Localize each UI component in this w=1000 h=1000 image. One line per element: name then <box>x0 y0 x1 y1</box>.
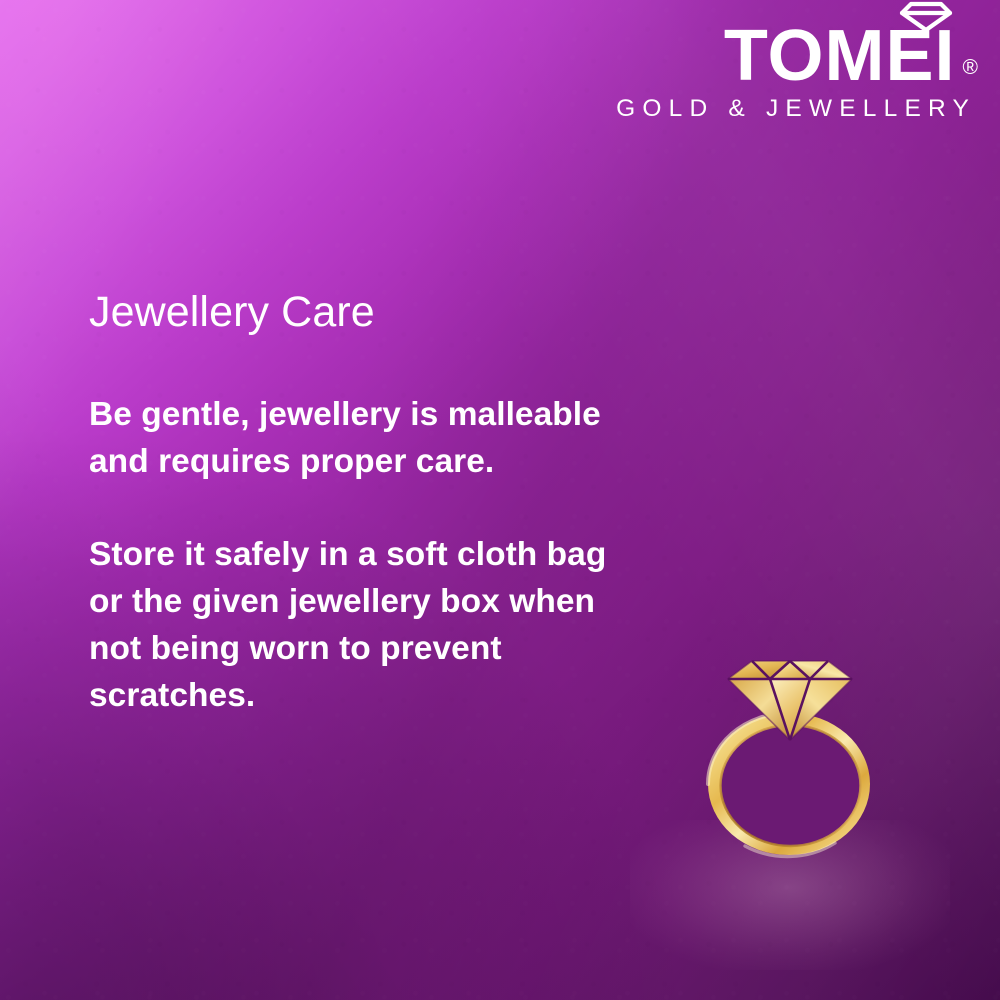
ring-vector <box>690 640 890 910</box>
care-paragraph-2: Store it safely in a soft cloth bag or t… <box>89 532 649 720</box>
copy-block: Jewellery Care Be gentle, jewellery is m… <box>89 288 649 720</box>
brand-wordmark-container: TOMEI <box>724 25 956 88</box>
brand-logo: TOMEI ® GOLD & JEWELLERY <box>616 6 978 123</box>
poster-canvas: TOMEI ® GOLD & JEWELLERY Jewellery Care … <box>0 0 1000 1000</box>
brand-tagline: GOLD & JEWELLERY <box>616 95 976 123</box>
diamond-ring-illustration <box>690 640 890 910</box>
brand-logo-row: TOMEI ® <box>616 6 978 88</box>
page-title: Jewellery Care <box>89 288 649 336</box>
diamond-outline-icon <box>898 0 954 33</box>
registered-trademark-icon: ® <box>963 57 978 78</box>
care-paragraph-1: Be gentle, jewellery is malleable and re… <box>89 392 649 486</box>
